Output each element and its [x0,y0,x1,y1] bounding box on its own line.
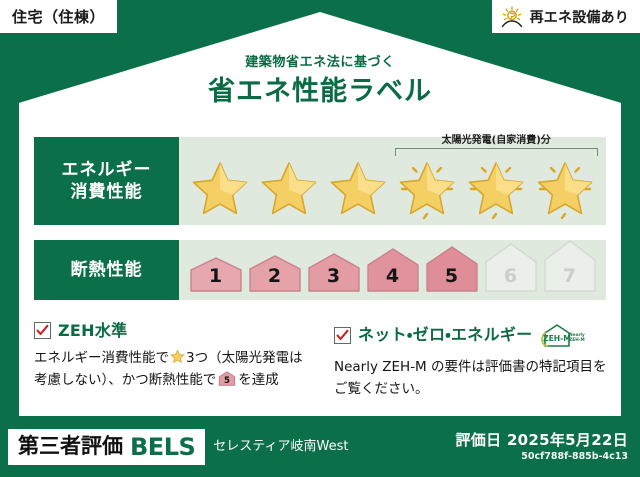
energy-star-rating [179,155,606,223]
insulation-level-5-value: 5 [424,267,480,286]
energy-performance-label-panel: エネルギー 消費性能 [34,137,179,225]
insulation-level-3: 3 [306,252,362,292]
svg-text:ZEH-M: ZEH-M [570,337,585,342]
inline-star-icon [170,349,185,364]
building-type-tag: 住宅（住棟） [0,0,117,33]
claim-net-zero-title: ネット・ゼロ・エネルギー [358,327,532,343]
insulation-level-5: 5 [424,245,480,292]
label-subtitle: 建築物省エネ法に基づく [0,56,640,69]
insulation-rating-panel: 1 2 3 4 [179,240,606,300]
claims-section: ZEH水準 エネルギー消費性能で3つ（太陽光発電は考慮しない）、かつ断熱性能で5… [34,322,612,401]
insulation-level-7-value: 7 [542,267,598,286]
solar-contribution-caption: 太陽光発電(自家消費)分 [393,136,601,148]
insulation-level-2-value: 2 [247,267,303,286]
insulation-level-7: 7 [542,239,598,292]
svg-text:5: 5 [224,376,230,386]
renewable-equipment-label: 再エネ設備あり [530,7,629,27]
energy-label-line2: 消費性能 [71,181,143,203]
label-footer: 第三者評価 BELS セレスティア岐南West 評価日 2025年5月22日 5… [0,416,640,477]
insulation-level-3-value: 3 [306,267,362,286]
checkbox-checked-icon [34,322,51,339]
energy-performance-row: エネルギー 消費性能 太陽光発電(自家消費)分 [34,137,606,225]
insulation-level-scale: 1 2 3 4 [179,240,606,300]
label-title-block: 建築物省エネ法に基づく 省エネ性能ラベル [0,56,640,105]
renewable-equipment-tag: 再エネ設備あり [492,0,640,33]
building-type-label: 住宅（住棟） [12,6,105,27]
svg-text:ZEH-M: ZEH-M [544,334,572,343]
insulation-level-2: 2 [247,254,303,292]
insulation-label: 断熱性能 [71,259,143,281]
star-filled [327,158,389,220]
insulation-performance-row: 断熱性能 1 2 [34,240,606,300]
insulation-level-6: 6 [483,242,539,292]
insulation-level-4-value: 4 [365,267,421,286]
evaluation-info: 評価日 2025年5月22日 50cf788f-885b-4c13 [456,432,629,461]
inline-house-icon: 5 [218,371,236,386]
claim-zeh-standard-body: エネルギー消費性能で3つ（太陽光発電は考慮しない）、かつ断熱性能で5を達成 [34,348,312,392]
evaluation-date-label: 評価日 [456,431,502,449]
insulation-performance-label-panel: 断熱性能 [34,240,179,300]
evaluation-date: 評価日 2025年5月22日 [456,432,629,449]
building-name: セレスティア岐南West [213,440,348,453]
claim-zeh-body-part3: を達成 [238,372,279,388]
star-filled [258,158,320,220]
claim-zeh-standard-header: ZEH水準 [34,322,312,339]
certificate-id: 50cf788f-885b-4c13 [456,452,629,462]
claim-net-zero-body: Nearly ZEH-M の要件は評価書の特記項目をご覧ください。 [334,357,612,401]
star-filled [189,158,251,220]
insulation-level-4: 4 [365,247,421,292]
insulation-level-1-value: 1 [188,267,244,286]
claim-zeh-standard-title: ZEH水準 [58,323,127,339]
evaluation-date-value: 2025年5月22日 [507,431,628,449]
solar-contribution-annotation: 太陽光発電(自家消費)分 [393,136,601,156]
label-title: 省エネ性能ラベル [0,78,640,105]
claim-net-zero-header: ネット・ゼロ・エネルギー ZEH-M Nearly ZEH-M [334,322,612,348]
star-filled-solar [534,158,596,220]
bels-jp-label: 第三者評価 [18,436,123,457]
energy-label-line1: エネルギー [62,159,152,181]
bels-logo: 第三者評価 BELS [8,429,205,465]
star-filled-solar [396,158,458,220]
claim-net-zero-energy: ネット・ゼロ・エネルギー ZEH-M Nearly ZEH-M Nearly Z… [334,322,612,401]
star-filled-solar [465,158,527,220]
claim-zeh-body-part1: エネルギー消費性能で [34,350,169,366]
checkbox-checked-icon [334,327,351,344]
bels-en-label: BELS [130,435,195,459]
energy-rating-panel: 太陽光発電(自家消費)分 [179,137,606,225]
sun-icon [500,6,524,28]
insulation-level-1: 1 [188,256,244,292]
insulation-level-6-value: 6 [483,267,539,286]
claim-zeh-standard: ZEH水準 エネルギー消費性能で3つ（太陽光発電は考慮しない）、かつ断熱性能で5… [34,322,312,401]
zeh-m-badge-icon: ZEH-M Nearly ZEH-M [541,322,585,348]
energy-performance-label: 住宅（住棟） 再エネ設備あり 建築物省エネ法に基づく [0,0,640,477]
